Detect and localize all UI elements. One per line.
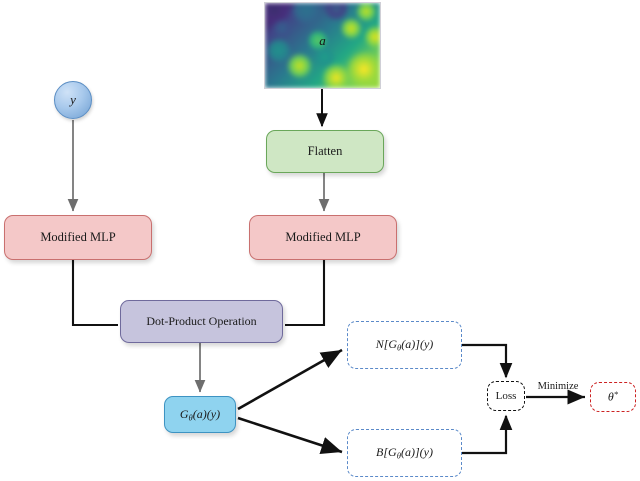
node-y-label: y [70, 92, 76, 108]
node-loss[interactable]: Loss [487, 381, 525, 411]
edge-label-minimize: Minimize [528, 379, 588, 393]
diagram-canvas: a [0, 0, 640, 481]
edge-b-term-to-loss [462, 416, 506, 453]
input-function-heatmap: a [264, 2, 381, 89]
node-modified-mlp-left-label: Modified MLP [40, 230, 115, 245]
node-y-input[interactable]: y [54, 81, 92, 119]
node-theta-star-formula: θ* [608, 389, 618, 405]
node-modified-mlp-right-label: Modified MLP [285, 230, 360, 245]
edge-g-output-to-b-term [238, 418, 342, 452]
heatmap-label-a: a [265, 33, 380, 49]
theta-star-superscript: * [614, 389, 618, 399]
node-dot-product-operation-label: Dot-Product Operation [146, 314, 256, 329]
b-term-prefix: B[G [376, 445, 397, 459]
n-term-prefix: N[G [376, 337, 397, 351]
g-output-arguments: (a)(y) [193, 407, 220, 421]
node-n-operator-formula: N[Gθ(a)](y) [376, 337, 434, 352]
node-flatten-label: Flatten [308, 144, 343, 159]
node-dot-product-operation[interactable]: Dot-Product Operation [120, 300, 283, 343]
node-b-operator-formula: B[Gθ(a)](y) [376, 445, 433, 460]
node-loss-label: Loss [496, 390, 517, 402]
edge-label-minimize-text: Minimize [538, 381, 579, 392]
n-term-suffix: (a)](y) [401, 337, 433, 351]
node-modified-mlp-left[interactable]: Modified MLP [4, 215, 152, 260]
node-b-operator-term[interactable]: B[Gθ(a)](y) [347, 429, 462, 477]
node-g-output[interactable]: Gθ(a)(y) [164, 396, 236, 433]
node-flatten[interactable]: Flatten [266, 130, 384, 173]
g-output-symbol: G [180, 407, 189, 421]
node-modified-mlp-right[interactable]: Modified MLP [249, 215, 397, 260]
edge-g-output-to-n-term [238, 350, 342, 409]
node-n-operator-term[interactable]: N[Gθ(a)](y) [347, 321, 462, 369]
edge-mlp-right-to-dotproduct [285, 260, 324, 325]
node-theta-star[interactable]: θ* [590, 382, 636, 412]
edge-n-term-to-loss [462, 345, 506, 377]
node-g-output-formula: Gθ(a)(y) [180, 407, 220, 422]
edge-mlp-left-to-dotproduct [73, 260, 118, 325]
b-term-suffix: (a)](y) [401, 445, 433, 459]
